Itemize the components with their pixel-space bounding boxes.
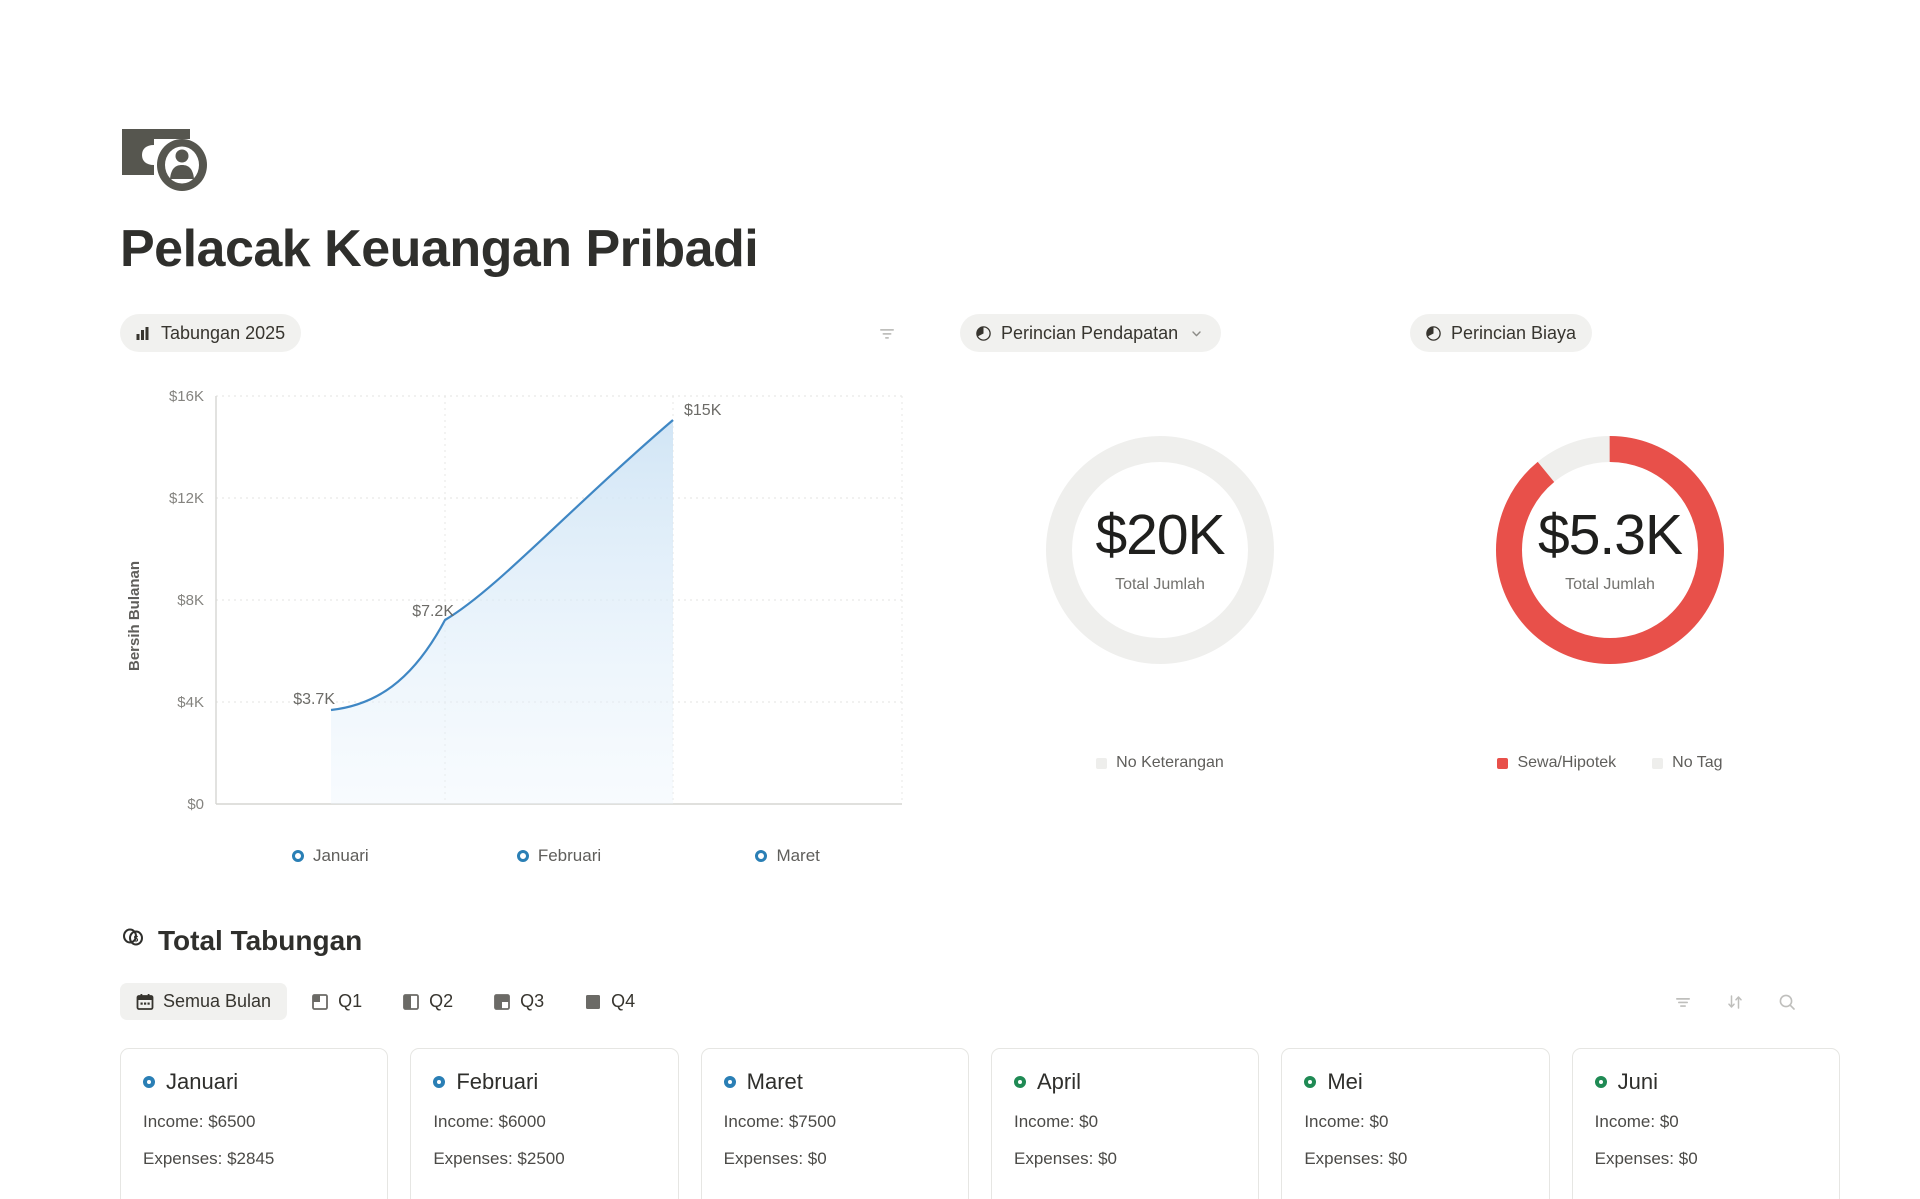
card-header: Maret <box>724 1069 946 1095</box>
expense-breakdown-panel: Perincian Biaya $5.3K Total Jumlah <box>1410 314 1810 772</box>
legend-item-no-tag[interactable]: No Tag <box>1652 754 1722 772</box>
table-row[interactable]: Februari Income: $6000 Expenses: $2500 <box>410 1048 678 1199</box>
filter-icon[interactable] <box>1670 989 1696 1015</box>
status-dot-icon <box>1014 1076 1026 1088</box>
card-header: April <box>1014 1069 1236 1095</box>
section-header: $ Total Tabungan <box>120 924 1880 957</box>
table-row[interactable]: Mei Income: $0 Expenses: $0 <box>1281 1048 1549 1199</box>
savings-chart-pill[interactable]: Tabungan 2025 <box>120 314 301 352</box>
legend-swatch-icon <box>1652 758 1663 769</box>
card-income: Income: $6000 <box>433 1112 655 1132</box>
x-legend-label: Maret <box>776 846 819 866</box>
circle-marker-icon <box>755 850 767 862</box>
filter-icon[interactable] <box>874 320 900 346</box>
search-icon[interactable] <box>1774 989 1800 1015</box>
status-dot-icon <box>1304 1076 1316 1088</box>
tabs-row: Semua Bulan Q1 <box>120 983 1880 1020</box>
x-legend-item-maret[interactable]: Maret <box>673 846 902 866</box>
point-label-februari: $7.2K <box>412 603 454 620</box>
savings-chart-header: Tabungan 2025 <box>120 314 900 352</box>
point-label-januari: $3.7K <box>293 691 335 708</box>
card-expenses: Expenses: $2845 <box>143 1149 365 1169</box>
circle-marker-icon <box>517 850 529 862</box>
income-total-label: Total Jumlah <box>1115 576 1205 594</box>
card-income: Income: $0 <box>1014 1112 1236 1132</box>
savings-chart-panel: Tabungan 2025 Bersih Bulanan <box>120 314 960 878</box>
svg-text:$: $ <box>134 935 139 944</box>
tab-label: Q2 <box>429 991 453 1012</box>
card-header: Juni <box>1595 1069 1817 1095</box>
card-expenses: Expenses: $2500 <box>433 1149 655 1169</box>
x-legend-item-januari[interactable]: Januari <box>216 846 445 866</box>
card-month-label: April <box>1037 1069 1081 1095</box>
total-savings-section: $ Total Tabungan <box>0 924 1920 1199</box>
legend-item-sewa-hipotek[interactable]: Sewa/Hipotek <box>1497 754 1616 772</box>
legend-label: Sewa/Hipotek <box>1517 754 1616 772</box>
quarter-4-icon <box>584 993 602 1011</box>
card-month-label: Mei <box>1327 1069 1362 1095</box>
income-breakdown-panel: Perincian Pendapatan $20K Total Jumlah <box>960 314 1360 772</box>
svg-text:$0: $0 <box>187 796 204 813</box>
tab-q2[interactable]: Q2 <box>386 983 469 1020</box>
pie-chart-icon <box>974 324 992 342</box>
chevron-down-icon[interactable] <box>1187 324 1205 342</box>
svg-text:$16K: $16K <box>169 388 204 405</box>
income-total-value: $20K <box>1095 507 1224 564</box>
tab-q1[interactable]: Q1 <box>295 983 378 1020</box>
x-legend-item-februari[interactable]: Februari <box>445 846 674 866</box>
savings-area-chart: Bersih Bulanan <box>120 378 920 878</box>
card-month-label: Januari <box>166 1069 238 1095</box>
chart-y-axis-title: Bersih Bulanan <box>126 561 143 671</box>
expense-total-label: Total Jumlah <box>1565 576 1655 594</box>
page-header: Pelacak Keuangan Pribadi <box>0 0 1920 278</box>
card-header: Januari <box>143 1069 365 1095</box>
card-month-label: Juni <box>1618 1069 1658 1095</box>
status-dot-icon <box>433 1076 445 1088</box>
savings-chart-pill-label: Tabungan 2025 <box>161 324 285 342</box>
income-donut-chart: $20K Total Jumlah <box>1044 434 1276 666</box>
tab-q3[interactable]: Q3 <box>477 983 560 1020</box>
card-income: Income: $6500 <box>143 1112 365 1132</box>
card-income: Income: $0 <box>1595 1112 1817 1132</box>
tab-label: Q1 <box>338 991 362 1012</box>
x-legend-label: Januari <box>313 846 369 866</box>
expense-breakdown-pill[interactable]: Perincian Biaya <box>1410 314 1592 352</box>
coins-icon: $ <box>120 924 146 957</box>
card-header: Februari <box>433 1069 655 1095</box>
card-income: Income: $7500 <box>724 1112 946 1132</box>
chart-canvas: $16K $12K $8K $4K $0 $3.7K $7.2K $15K <box>120 378 920 848</box>
card-header: Mei <box>1304 1069 1526 1095</box>
point-label-maret: $15K <box>684 402 722 419</box>
card-expenses: Expenses: $0 <box>1304 1149 1526 1169</box>
table-row[interactable]: April Income: $0 Expenses: $0 <box>991 1048 1259 1199</box>
income-breakdown-pill-label: Perincian Pendapatan <box>1001 324 1178 342</box>
expense-donut-legend: Sewa/Hipotek No Tag <box>1497 754 1722 772</box>
expense-total-value: $5.3K <box>1538 507 1682 564</box>
income-donut-block: $20K Total Jumlah No Keterangan <box>960 434 1360 772</box>
table-row[interactable]: Maret Income: $7500 Expenses: $0 <box>701 1048 969 1199</box>
pie-chart-icon <box>1424 324 1442 342</box>
tab-q4[interactable]: Q4 <box>568 983 651 1020</box>
status-dot-icon <box>1595 1076 1607 1088</box>
section-title-label: Total Tabungan <box>158 925 362 957</box>
expense-donut-block: $5.3K Total Jumlah Sewa/Hipotek No Tag <box>1410 434 1810 772</box>
table-row[interactable]: Januari Income: $6500 Expenses: $2845 <box>120 1048 388 1199</box>
card-income: Income: $0 <box>1304 1112 1526 1132</box>
expense-donut-center: $5.3K Total Jumlah <box>1494 434 1726 666</box>
card-expenses: Expenses: $0 <box>724 1149 946 1169</box>
chart-x-legend: Januari Februari Maret <box>216 846 902 866</box>
legend-item-no-keterangan[interactable]: No Keterangan <box>1096 754 1224 772</box>
sort-icon[interactable] <box>1722 989 1748 1015</box>
card-expenses: Expenses: $0 <box>1595 1149 1817 1169</box>
quarter-1-icon <box>311 993 329 1011</box>
expense-donut-chart: $5.3K Total Jumlah <box>1494 434 1726 666</box>
bar-chart-icon <box>134 324 152 342</box>
legend-swatch-icon <box>1096 758 1107 769</box>
tab-label: Q3 <box>520 991 544 1012</box>
app-root: Pelacak Keuangan Pribadi Tabungan 2025 <box>0 0 1920 1199</box>
tab-label: Q4 <box>611 991 635 1012</box>
svg-text:$4K: $4K <box>177 694 204 711</box>
table-row[interactable]: Juni Income: $0 Expenses: $0 <box>1572 1048 1840 1199</box>
table-tools <box>1670 989 1800 1015</box>
status-dot-icon <box>143 1076 155 1088</box>
calendar-icon <box>136 993 154 1011</box>
chart-area-fill <box>331 420 673 804</box>
month-cards-list: Januari Income: $6500 Expenses: $2845 Fe… <box>120 1048 1880 1199</box>
tab-semua-bulan[interactable]: Semua Bulan <box>120 983 287 1020</box>
legend-label: No Keterangan <box>1116 754 1224 772</box>
income-breakdown-pill[interactable]: Perincian Pendapatan <box>960 314 1221 352</box>
month-filter-tabs: Semua Bulan Q1 <box>120 983 651 1020</box>
status-dot-icon <box>724 1076 736 1088</box>
legend-swatch-icon <box>1497 758 1508 769</box>
x-legend-label: Februari <box>538 846 601 866</box>
page-title: Pelacak Keuangan Pribadi <box>120 221 1920 278</box>
dashboard-top-row: Tabungan 2025 Bersih Bulanan <box>0 314 1920 878</box>
expense-breakdown-pill-label: Perincian Biaya <box>1451 324 1576 342</box>
card-month-label: Maret <box>747 1069 803 1095</box>
tab-label: Semua Bulan <box>163 991 271 1012</box>
money-person-icon <box>120 125 1920 193</box>
svg-text:$12K: $12K <box>169 490 204 507</box>
circle-marker-icon <box>292 850 304 862</box>
svg-text:$8K: $8K <box>177 592 204 609</box>
income-donut-center: $20K Total Jumlah <box>1044 434 1276 666</box>
quarter-3-icon <box>493 993 511 1011</box>
quarter-2-icon <box>402 993 420 1011</box>
card-expenses: Expenses: $0 <box>1014 1149 1236 1169</box>
legend-label: No Tag <box>1672 754 1722 772</box>
income-donut-legend: No Keterangan <box>1096 754 1224 772</box>
card-month-label: Februari <box>456 1069 538 1095</box>
